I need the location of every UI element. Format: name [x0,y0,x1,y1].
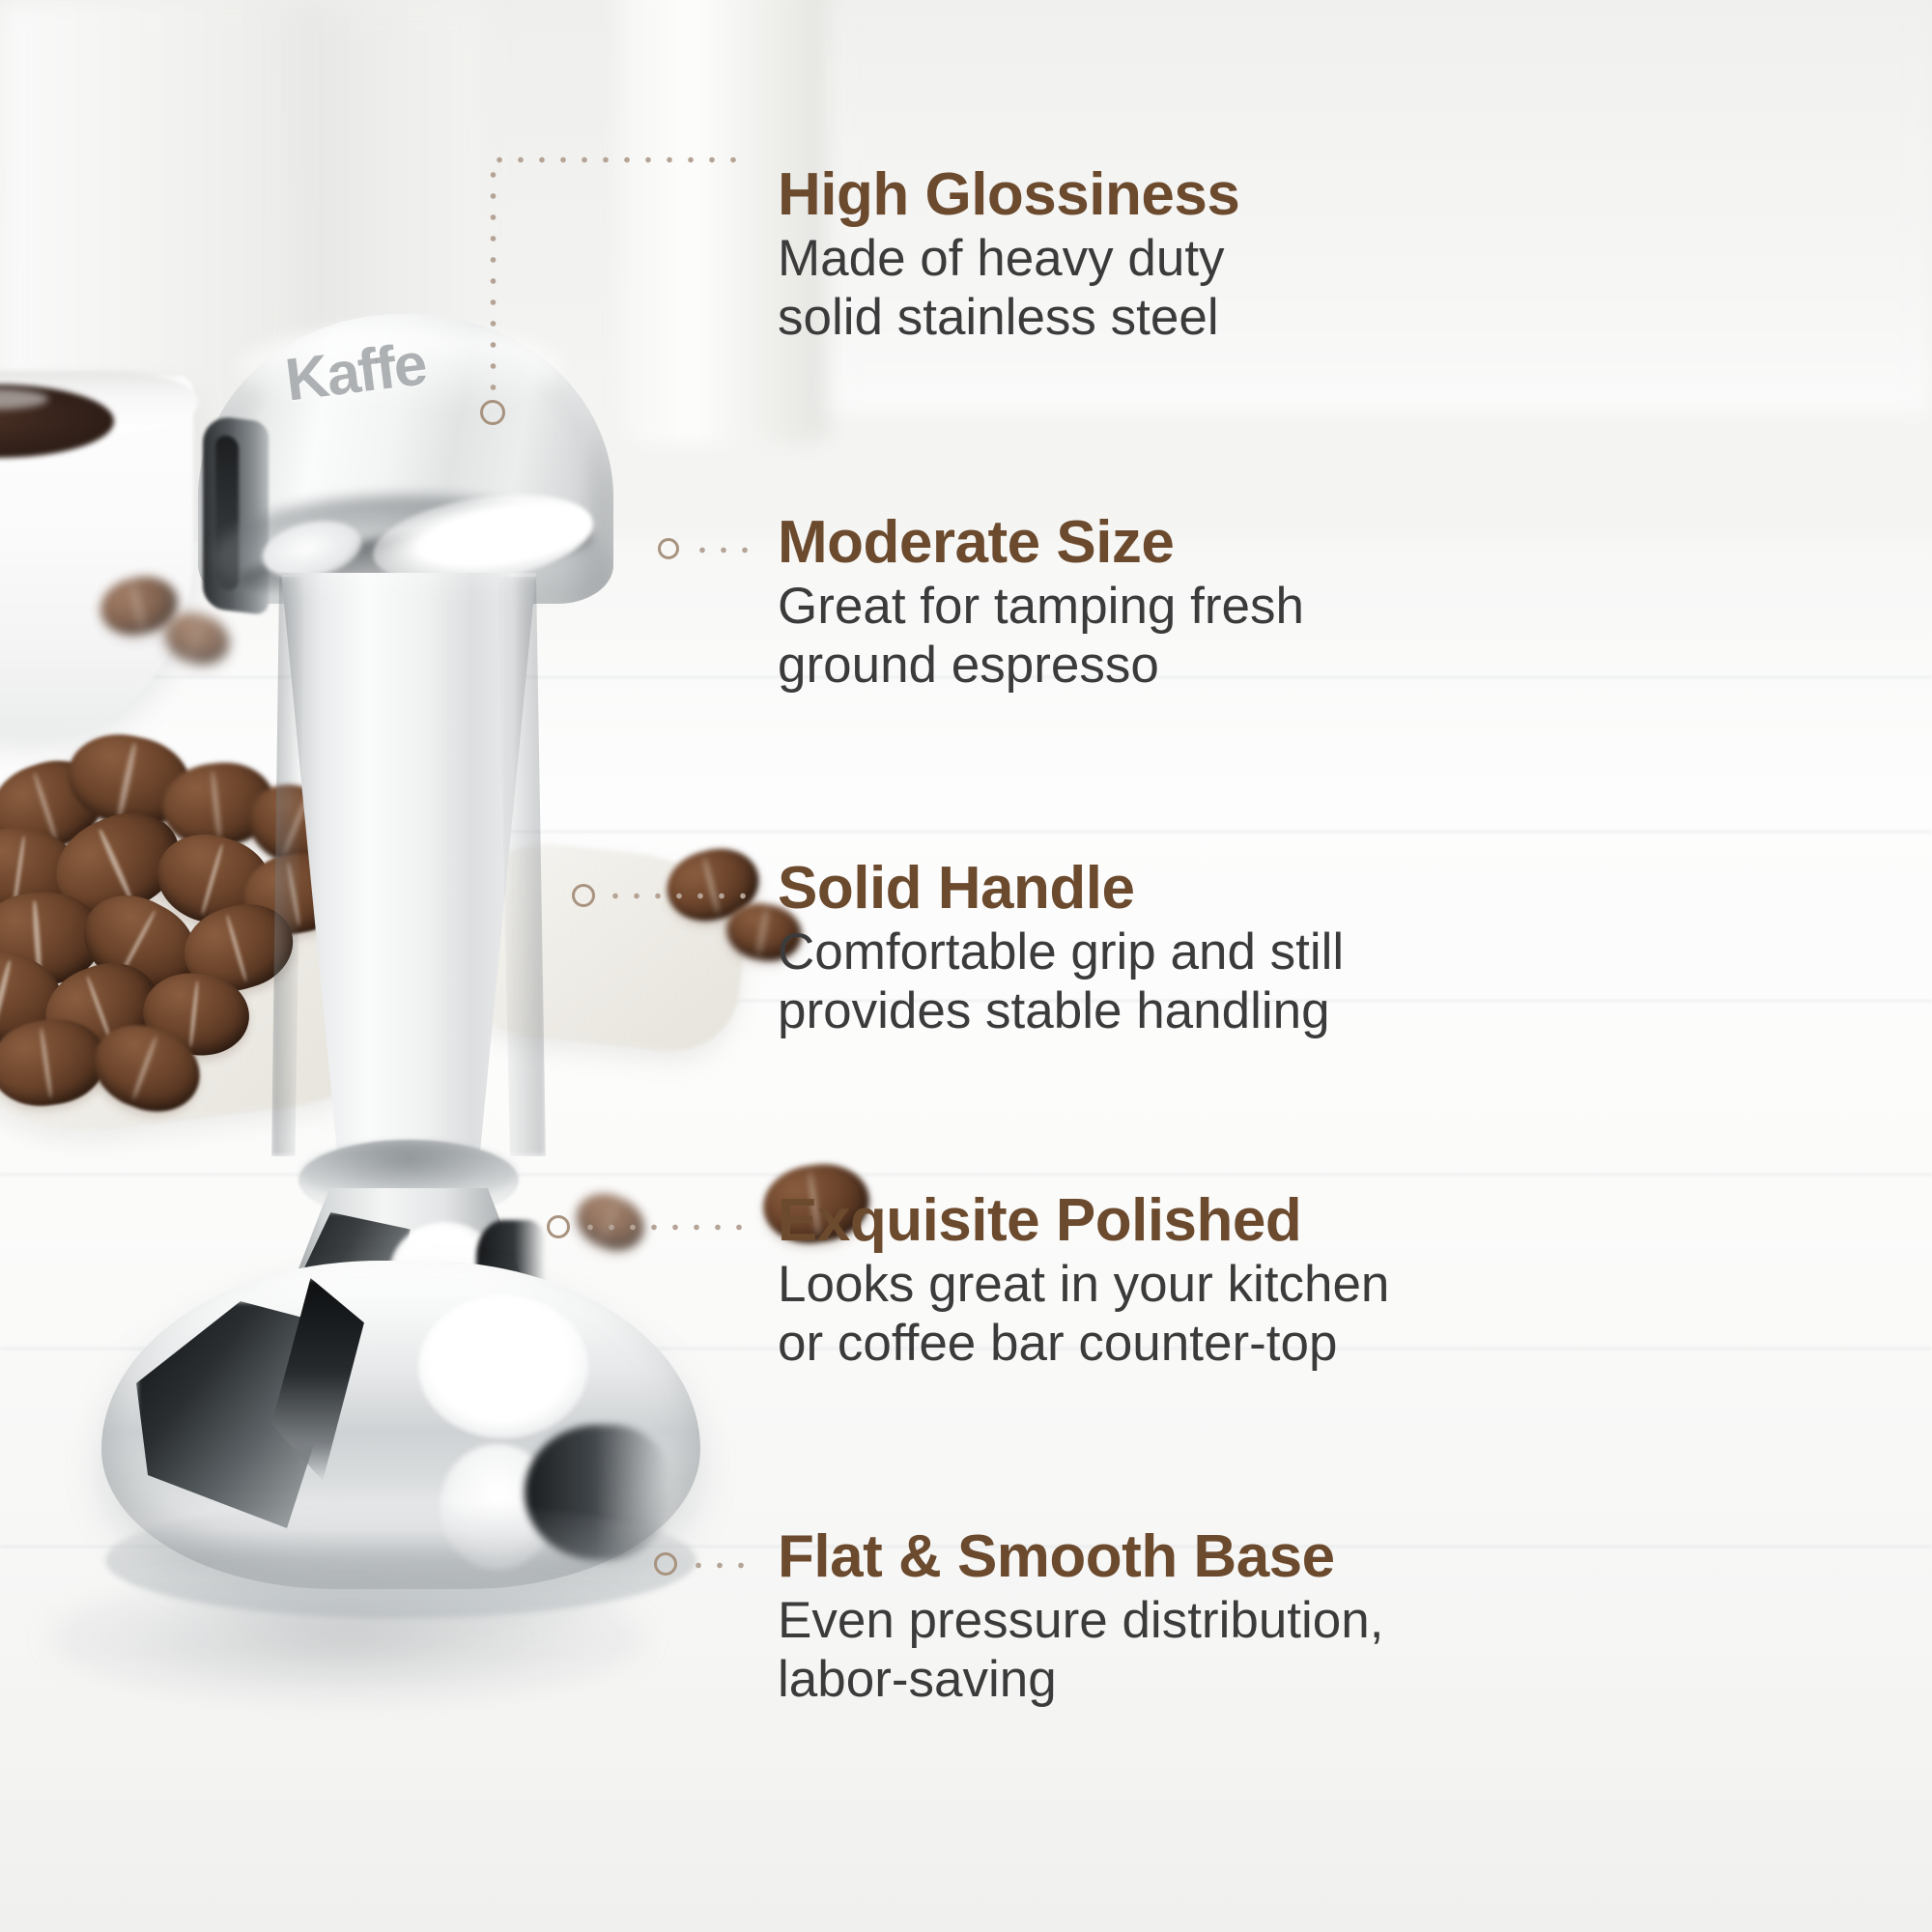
callout-moderate-size: Moderate Size Great for tamping fresh gr… [778,512,1304,695]
leader-line-high-glossiness-vertical [489,164,497,404]
leader-endpoint-moderate-size [658,538,679,559]
infographic-canvas: Kaffe High Gl [0,0,1932,1932]
callout-title: Solid Handle [778,858,1344,920]
callout-title: Exquisite Polished [778,1190,1389,1252]
leader-endpoint-flat-smooth-base [654,1552,677,1576]
callout-body-line: Made of heavy duty [778,230,1239,288]
callout-high-glossiness: High Glossiness Made of heavy duty solid… [778,164,1239,347]
callout-body: Looks great in your kitchen or coffee ba… [778,1256,1389,1373]
callout-exquisite-polished: Exquisite Polished Looks great in your k… [778,1190,1389,1373]
callout-flat-smooth-base: Flat & Smooth Base Even pressure distrib… [778,1526,1384,1709]
leader-line-flat-smooth-base [688,1561,753,1570]
leader-endpoint-high-glossiness [480,400,505,425]
callout-body: Made of heavy duty solid stainless steel [778,230,1239,347]
callout-body-line: Even pressure distribution, [778,1592,1384,1650]
tamper-stem-edge-left [271,577,304,1156]
callout-title: Moderate Size [778,512,1304,574]
callout-body-line: solid stainless steel [778,289,1239,347]
leader-endpoint-solid-handle [572,884,595,907]
callout-body: Comfortable grip and still provides stab… [778,923,1344,1040]
callout-body-line: provides stable handling [778,982,1344,1040]
callout-body-line: Great for tamping fresh [778,578,1304,636]
leader-line-solid-handle [605,892,753,900]
leader-line-moderate-size [692,546,753,554]
callout-body-line: ground espresso [778,637,1304,695]
tamper-drop-shadow [48,1575,647,1700]
tamper-stem-edge-right [497,577,546,1156]
espresso-tamper: Kaffe [92,314,710,1338]
callout-body: Great for tamping fresh ground espresso [778,578,1304,695]
tamper-base-gloss [418,1295,588,1438]
leader-endpoint-exquisite-polished [547,1215,570,1238]
leader-line-exquisite-polished [580,1223,753,1232]
callout-body-line: or coffee bar counter-top [778,1315,1389,1373]
callout-solid-handle: Solid Handle Comfortable grip and still … [778,858,1344,1040]
callout-body-line: Looks great in your kitchen [778,1256,1389,1314]
callout-body-line: Comfortable grip and still [778,923,1344,981]
callout-title: High Glossiness [778,164,1239,226]
leader-line-high-glossiness-horizontal [489,156,748,164]
callout-body-line: labor-saving [778,1651,1384,1709]
callout-title: Flat & Smooth Base [778,1526,1384,1588]
callout-body: Even pressure distribution, labor-saving [778,1592,1384,1709]
